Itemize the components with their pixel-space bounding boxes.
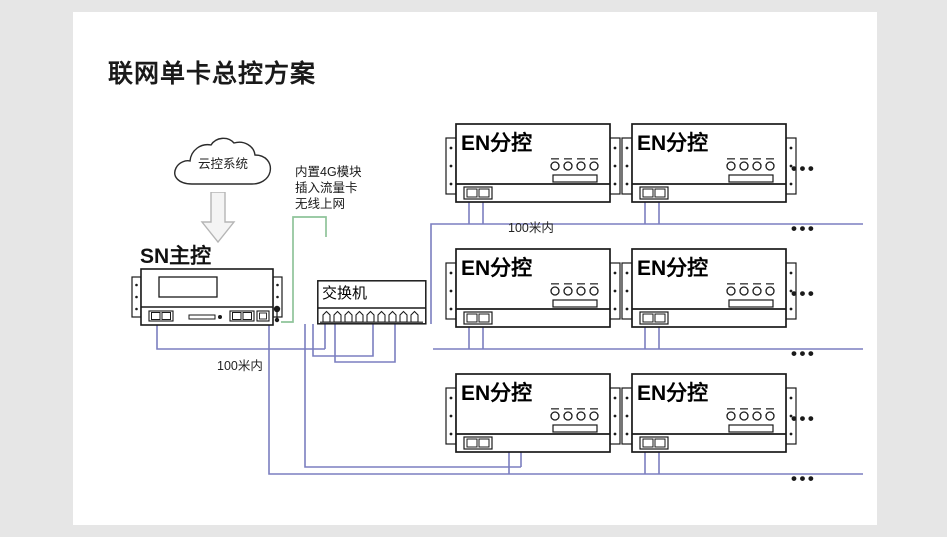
continuation-dots-r2-device: ••• bbox=[791, 289, 816, 299]
switch-label: 交换机 bbox=[322, 282, 367, 303]
note-4g-line-1: 内置4G模块 bbox=[295, 164, 362, 180]
en-controller-label: EN分控 bbox=[461, 252, 532, 282]
continuation-dots-r1-device: ••• bbox=[791, 164, 816, 174]
cloud-node: 云控系统 bbox=[168, 134, 278, 192]
en-controller-label: EN分控 bbox=[637, 377, 708, 407]
note-4g-line-3: 无线上网 bbox=[295, 196, 362, 212]
master-title: SN主控 bbox=[140, 240, 211, 270]
en-controller-label: EN分控 bbox=[637, 127, 708, 157]
arrow-down-node bbox=[198, 192, 238, 244]
continuation-dots-r3-device: ••• bbox=[791, 414, 816, 424]
wire-master-to-bus bbox=[157, 324, 325, 349]
arrow-down-icon bbox=[198, 192, 238, 244]
continuation-dots-r1-wire: ••• bbox=[791, 224, 816, 234]
device-sn-master[interactable] bbox=[131, 267, 283, 327]
continuation-dots-r2-wire: ••• bbox=[791, 349, 816, 359]
antenna-icon bbox=[274, 306, 280, 312]
wire-switch-loop-a bbox=[335, 324, 395, 362]
en-controller-label: EN分控 bbox=[461, 127, 532, 157]
en-controller-label: EN分控 bbox=[637, 252, 708, 282]
device-en-r1c1[interactable]: EN分控 bbox=[445, 122, 621, 204]
device-switch[interactable]: 交换机 bbox=[317, 280, 427, 325]
device-en-r3c1[interactable]: EN分控 bbox=[445, 372, 621, 454]
note-4g-line-2: 插入流量卡 bbox=[295, 180, 362, 196]
continuation-dots-r3-wire: ••• bbox=[791, 474, 816, 484]
note-4g-module: 内置4G模块 插入流量卡 无线上网 bbox=[295, 164, 362, 212]
diagram-canvas: 联网单卡总控方案 bbox=[73, 12, 877, 525]
wire-switch-loop-b bbox=[313, 324, 373, 356]
device-en-r3c2[interactable]: EN分控 bbox=[621, 372, 797, 454]
device-en-r2c1[interactable]: EN分控 bbox=[445, 247, 621, 329]
sn-master-illustration bbox=[131, 267, 283, 327]
en-controller-label: EN分控 bbox=[461, 377, 532, 407]
device-en-r2c2[interactable]: EN分控 bbox=[621, 247, 797, 329]
page-title: 联网单卡总控方案 bbox=[108, 54, 316, 90]
device-en-r1c2[interactable]: EN分控 bbox=[621, 122, 797, 204]
cloud-label: 云控系统 bbox=[168, 153, 278, 172]
distance-label-master: 100米内 bbox=[217, 355, 263, 374]
distance-label-row1: 100米内 bbox=[508, 217, 554, 236]
